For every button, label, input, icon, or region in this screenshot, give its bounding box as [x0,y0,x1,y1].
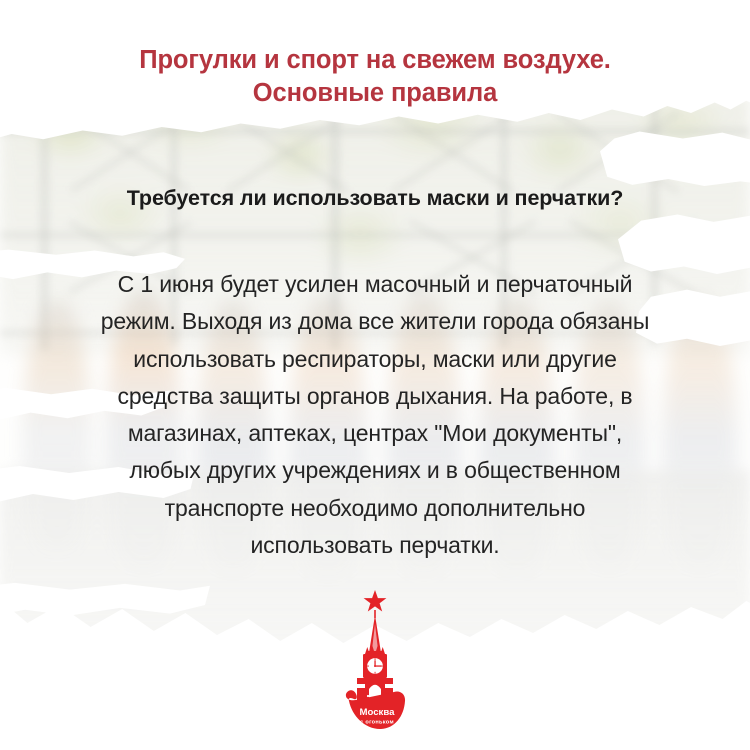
poster-canvas: Прогулки и спорт на свежем воздухе. Осно… [0,0,750,750]
body-line: использовать перчатки. [0,527,750,564]
moscow-s-ogonkom-logo: Москва с огоньком [336,588,414,734]
title-line-2: Основные правила [0,77,750,110]
tower-crenel-left [357,684,365,688]
question-heading: Требуется ли использовать маски и перчат… [0,186,750,211]
title-line-1: Прогулки и спорт на свежем воздухе. [0,44,750,77]
body-paragraph: С 1 июня будет усилен масочный и перчато… [0,266,750,564]
poster-title: Прогулки и спорт на свежем воздухе. Осно… [0,44,750,110]
tower-pinnacle [380,647,385,654]
body-line: С 1 июня будет усилен масочный и перчато… [0,266,750,303]
body-line: средства защиты органов дыхания. На рабо… [0,378,750,415]
tower-crenel-right [385,684,393,688]
tower-pinnacle [365,647,370,654]
logo-secondary-text: с огоньком [360,720,394,726]
body-line: транспорте необходимо дополнительно [0,490,750,527]
body-line: магазинах, аптеках, центрах "Мои докумен… [0,415,750,452]
body-line: любых других учреждениях и в общественно… [0,452,750,489]
red-star-icon [364,590,387,612]
logo-primary-text: Москва [360,707,396,718]
body-line: режим. Выходя из дома все жители города … [0,303,750,340]
body-line: использовать респираторы, маски или друг… [0,341,750,378]
